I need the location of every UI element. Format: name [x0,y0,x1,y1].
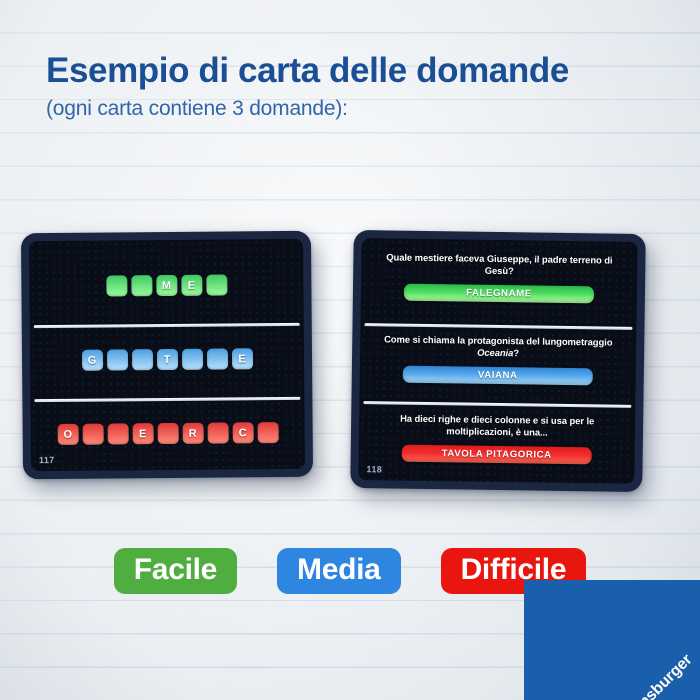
card-number: 118 [366,464,382,474]
letter-tile-filled: M [156,275,177,296]
card-separator [364,323,632,330]
letter-tile-filled: E [181,275,202,296]
card-number: 117 [39,455,55,465]
question-title-italic: Oceania [477,347,513,359]
question-text: Quale mestiere faceva Giuseppe, il padre… [361,251,637,280]
letter-tile-blank [131,275,152,296]
letter-tile-blank [181,349,202,370]
letter-tile-blank [257,422,278,443]
card-face: Quale mestiere faceva Giuseppe, il padre… [358,238,637,484]
page-title: Esempio di carta delle domande [46,52,666,89]
page-subtitle: (ogni carta contiene 3 domande): [46,97,666,121]
letter-row-red: OERC [31,422,305,445]
letter-tile-blank [106,275,127,296]
letter-tile-filled: R [182,423,203,444]
answer-bar-blue[interactable]: VAIANA [403,365,593,385]
letter-row-green: ME [29,274,303,297]
question-block-1: Quale mestiere faceva Giuseppe, il padre… [361,251,638,304]
card-separator [363,401,631,408]
card-face: ME GTE OERC 117 [29,239,305,471]
letter-tile-filled: E [231,348,252,369]
letter-tile-blank [206,274,227,295]
letter-tile-blank [157,423,178,444]
page-heading: Esempio di carta delle domande (ogni car… [46,52,666,121]
ravensburger-logo: Ravensburger [524,580,700,700]
question-text: Ha dieci righe e dieci colonne e si usa … [359,412,635,441]
letter-tile-filled: O [57,424,78,445]
question-text-part: Come si chiama la protagonista del lungo… [384,333,612,347]
question-block-2: Come si chiama la protagonista del lungo… [360,333,637,386]
letter-tile-filled: E [132,423,153,444]
letter-tile-blank [131,349,152,370]
question-block-3: Ha dieci righe e dieci colonne e si usa … [359,412,636,465]
question-text-part: Quale mestiere faceva Giuseppe, il padre… [386,251,612,276]
answer-letters-card[interactable]: ME GTE OERC 117 [21,231,313,480]
card-separator [34,323,300,328]
letter-tile-blank [106,349,127,370]
letter-tile-filled: G [81,350,102,371]
answer-bar-green[interactable]: FALEGNAME [404,283,594,303]
difficulty-badge-media[interactable]: Media [277,548,401,594]
answer-bar-red[interactable]: TAVOLA PITAGORICA [402,444,592,464]
letter-tile-blank [206,348,227,369]
letter-tile-filled: T [156,349,177,370]
letter-row-blue: GTE [30,348,304,371]
question-text-part: Ha dieci righe e dieci colonne e si usa … [400,413,594,438]
question-text-part: ? [513,348,519,359]
question-text: Come si chiama la protagonista del lungo… [360,333,636,362]
letter-tile-blank [107,423,128,444]
letter-tile-blank [82,424,103,445]
questions-card[interactable]: Quale mestiere faceva Giuseppe, il padre… [350,230,646,492]
letter-tile-filled: C [232,422,253,443]
letter-tile-blank [207,422,228,443]
difficulty-badge-facile[interactable]: Facile [114,548,237,594]
card-separator [34,397,300,402]
